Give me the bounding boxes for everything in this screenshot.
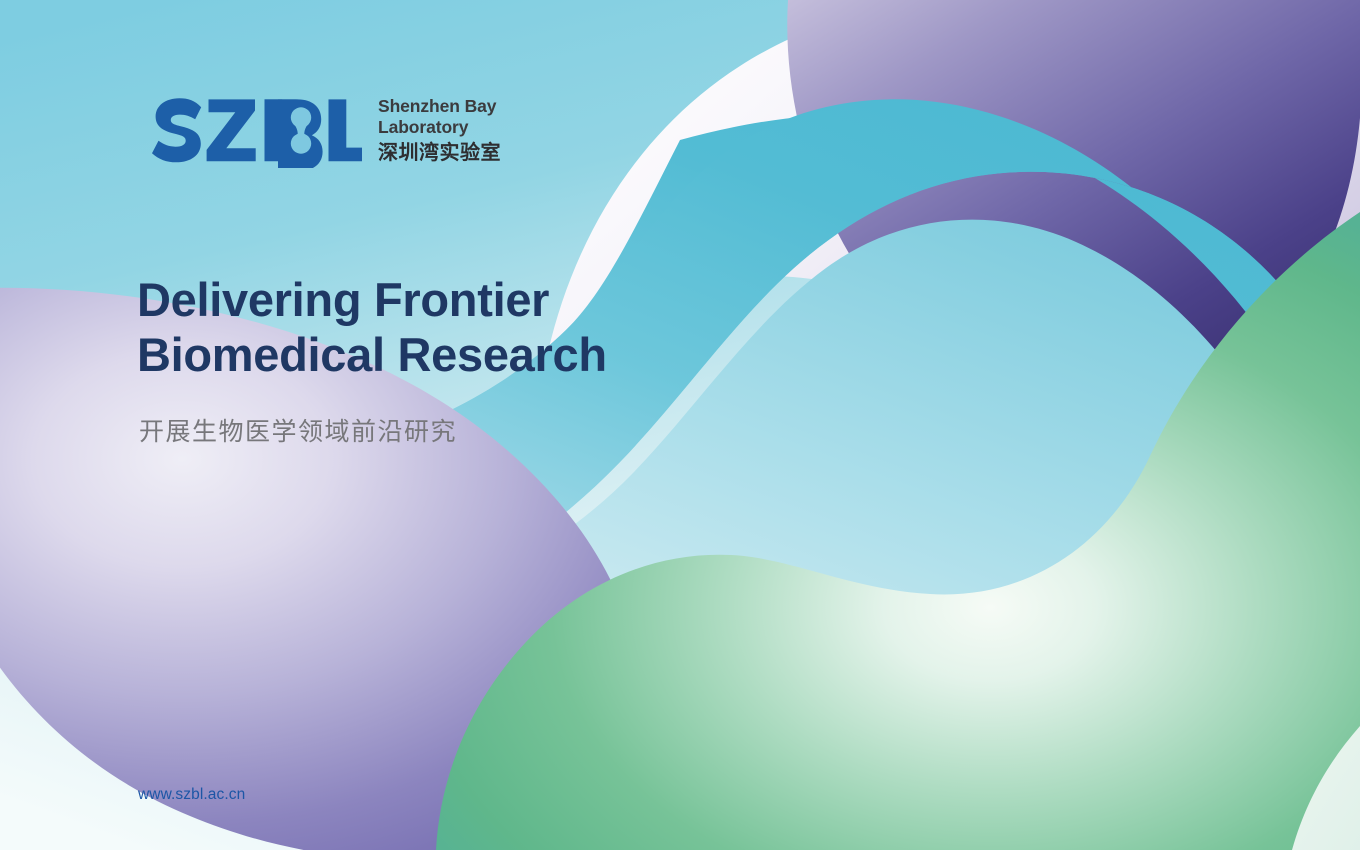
poster-canvas: Shenzhen Bay Laboratory 深圳湾实验室 Deliverin…	[0, 0, 1360, 850]
website-link[interactable]: www.szbl.ac.cn	[138, 786, 245, 804]
poster-content: Shenzhen Bay Laboratory 深圳湾实验室 Deliverin…	[0, 0, 1360, 850]
szbl-logo[interactable]: Shenzhen Bay Laboratory 深圳湾实验室	[152, 96, 501, 168]
page-title: Delivering Frontier Biomedical Research	[137, 272, 757, 383]
page-subtitle: 开展生物医学领域前沿研究	[139, 416, 457, 449]
org-name-en-line2: Laboratory	[378, 117, 501, 138]
szbl-wordmark-icon	[152, 96, 362, 168]
logo-text-block: Shenzhen Bay Laboratory 深圳湾实验室	[378, 96, 501, 168]
org-name-en-line1: Shenzhen Bay	[378, 96, 501, 117]
org-name-cn: 深圳湾实验室	[378, 140, 501, 164]
